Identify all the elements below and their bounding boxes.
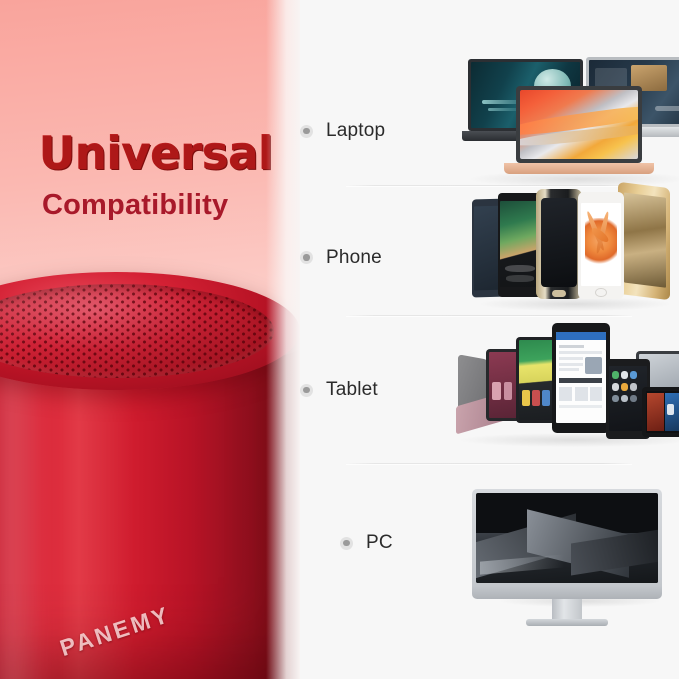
phone-shadow (480, 297, 670, 311)
compat-label-text: Tablet (326, 379, 378, 401)
compat-row-tablet[interactable]: Tablet (300, 335, 679, 445)
imac-stand-neck (552, 599, 582, 621)
headline-primary: Universal (39, 128, 289, 180)
imac-display (472, 489, 662, 599)
phone-iphone-white (578, 192, 624, 299)
imac-stand-foot (526, 619, 608, 626)
radio-bullet-icon (300, 125, 313, 138)
phone-gold (618, 182, 670, 300)
compat-label-pc: PC (300, 532, 460, 554)
tablet-4-large (552, 323, 610, 433)
radio-bullet-icon (340, 537, 353, 550)
phone-image (460, 205, 679, 310)
compat-label-text: Laptop (326, 120, 385, 142)
compat-label-text: PC (366, 532, 393, 554)
compat-label-phone: Phone (300, 247, 460, 269)
compatibility-list: Laptop (300, 0, 679, 679)
speaker-grille-shading (0, 284, 274, 378)
speaker-top-rim (0, 272, 300, 390)
tablet-2 (486, 349, 520, 421)
tablet-3 (516, 337, 556, 423)
laptop-image (460, 76, 679, 186)
phone-galaxy-edge (536, 189, 582, 299)
pc-image (460, 483, 679, 603)
tablet-7-fire (642, 387, 679, 437)
headline-block: Universal Compatibility (39, 128, 289, 224)
divider-2 (346, 315, 632, 316)
tablet-image (460, 335, 679, 445)
compat-row-phone[interactable]: Phone (300, 205, 679, 310)
speaker-grille (0, 284, 274, 378)
radio-bullet-icon (300, 384, 313, 397)
headline-secondary: Compatibility (42, 186, 289, 224)
compat-row-laptop[interactable]: Laptop (300, 76, 679, 186)
compat-row-pc[interactable]: PC (300, 483, 679, 603)
divider-1 (346, 185, 632, 186)
compat-label-tablet: Tablet (300, 379, 460, 401)
product-feature-graphic: Universal Compatibility PANEMY Laptop (0, 0, 679, 679)
compat-label-laptop: Laptop (300, 120, 460, 142)
laptop-macbook-lid (516, 86, 642, 163)
imac-chin (472, 583, 662, 597)
laptop-macbook-base (504, 163, 654, 174)
compat-label-text: Phone (326, 247, 382, 269)
speaker-product-image: PANEMY (0, 272, 300, 679)
radio-bullet-icon (300, 251, 313, 264)
divider-3 (346, 463, 632, 464)
hero-panel: Universal Compatibility PANEMY (0, 0, 300, 679)
